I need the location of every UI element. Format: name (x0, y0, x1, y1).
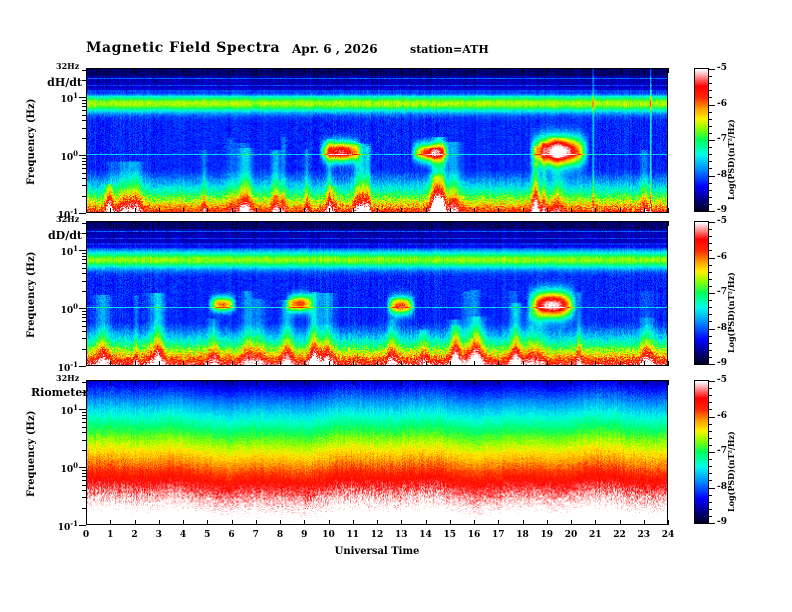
colorbar1-minor-tick (709, 83, 712, 84)
panel2-x-tick-mark (304, 361, 305, 366)
colorbar2-minor-tick (709, 357, 712, 358)
panel2-y-minor-tick (82, 268, 86, 269)
panel2-y-minor-tick (82, 331, 86, 332)
colorbar3-minor-tick (709, 438, 712, 439)
panel3-x-tick-mark (668, 520, 669, 525)
panel3-x-tick-mark (644, 380, 645, 385)
panel1-x-tick-mark (256, 68, 257, 73)
x-tick-label: 21 (585, 530, 605, 540)
panel3-x-tick-mark (232, 380, 233, 385)
panel2-y-minor-tick (82, 321, 86, 322)
panel1-y-minor-tick (82, 178, 86, 179)
panel3-x-tick-mark (401, 520, 402, 525)
panel3-y-minor-tick (82, 450, 86, 451)
colorbar2-minor-tick (709, 236, 712, 237)
panel2-x-tick-mark (110, 221, 111, 226)
panel1-x-tick-mark (304, 208, 305, 213)
panel1-x-tick-mark (377, 208, 378, 213)
panel2-y-minor-tick (82, 314, 86, 315)
panel1-x-tick-mark (135, 208, 136, 213)
panel1-x-tick-mark (595, 208, 596, 213)
panel2-x-tick-mark (159, 361, 160, 366)
panel1-y-minor-tick (82, 158, 86, 159)
panel3-x-tick-mark (595, 520, 596, 525)
colorbar3-tick-mark (709, 488, 715, 489)
panel3-y-minor-tick (82, 476, 86, 477)
panel3-y-minor-tick (82, 392, 86, 393)
colorbar1-minor-tick (709, 112, 712, 113)
colorbar2-minor-tick (709, 300, 712, 301)
x-tick-label: 9 (294, 530, 314, 540)
panel1-x-tick-mark (498, 208, 499, 213)
x-tick-label: 11 (343, 530, 363, 540)
panel3-x-tick-mark (668, 380, 669, 385)
colorbar3-minor-tick (709, 480, 712, 481)
panel1-x-tick-mark (644, 208, 645, 213)
panel2-y-tick-label: 101 (48, 244, 78, 258)
panel3-x-tick-mark (329, 520, 330, 525)
panel3-y-tick-mark (79, 525, 86, 526)
colorbar2-tick-mark (709, 222, 715, 223)
colorbar2-minor-tick (709, 265, 712, 266)
panel2-y-minor-tick (82, 291, 86, 292)
colorbar3-tick-label: -6 (717, 411, 727, 421)
panel3-x-tick-mark (450, 380, 451, 385)
panel1-y-minor-tick (82, 115, 86, 116)
panel2-y-minor-tick (82, 263, 86, 264)
panel1-y-minor-tick (82, 120, 86, 121)
panel2-x-tick-mark (426, 221, 427, 226)
colorbar1-title: Log(PSD)(nT²/Hz) (726, 119, 736, 200)
panel1-x-tick-mark (571, 68, 572, 73)
colorbar2-minor-tick (709, 350, 712, 351)
panel1-x-tick-mark (377, 68, 378, 73)
panel1-y-tick-label: 101 (48, 91, 78, 105)
panel1-x-tick-mark (426, 208, 427, 213)
x-tick-label: 19 (537, 530, 557, 540)
panel1-x-tick-mark (668, 68, 669, 73)
panel1-x-tick-mark (353, 208, 354, 213)
panel1-y-minor-tick (82, 173, 86, 174)
panel3-x-tick-mark (401, 380, 402, 385)
panel3-x-tick-mark (183, 520, 184, 525)
panel2-y-minor-tick (82, 338, 86, 339)
colorbar3-tick-mark (709, 452, 715, 453)
colorbar3-tick-mark (709, 381, 715, 382)
panel1-x-tick-mark (159, 208, 160, 213)
colorbar3-minor-tick (709, 402, 712, 403)
panel1-x-tick-mark (401, 68, 402, 73)
panel1-x-tick-mark (183, 68, 184, 73)
colorbar3-minor-tick (709, 395, 712, 396)
panel1-x-tick-mark (571, 208, 572, 213)
panel2-x-tick-mark (644, 221, 645, 226)
panel1-x-tick-mark (450, 68, 451, 73)
page-title: Magnetic Field Spectra (86, 40, 280, 56)
panel3-label: Riometer (31, 386, 82, 399)
colorbar1-minor-tick (709, 183, 712, 184)
panel3-x-tick-mark (498, 380, 499, 385)
colorbar2-tick-label: -9 (717, 358, 727, 368)
panel1-x-tick-mark (159, 68, 160, 73)
panel1-y-tick-label: 100 (48, 149, 78, 163)
colorbar1-tick-mark (709, 105, 715, 106)
panel2-y-minor-tick (82, 317, 86, 318)
colorbar1-minor-tick (709, 133, 712, 134)
panel3-y-minor-tick (82, 412, 86, 413)
panel2-x-tick-mark (595, 361, 596, 366)
colorbar3-tick-label: -5 (717, 375, 727, 385)
panel2-y-minor-tick (82, 273, 86, 274)
colorbar3-minor-tick (709, 516, 712, 517)
panel1-y-tick-mark (79, 213, 86, 214)
panel1-x-tick-mark (474, 208, 475, 213)
panel1-x-tick-mark (668, 208, 669, 213)
panel3-y-tick-mark (79, 467, 86, 468)
panel2-x-tick-mark (523, 361, 524, 366)
x-tick-label: 14 (416, 530, 436, 540)
panel1-y-minor-tick (82, 138, 86, 139)
panel3-y-minor-tick (82, 497, 86, 498)
colorbar1-minor-tick (709, 154, 712, 155)
panel2-x-tick-mark (232, 221, 233, 226)
panel2-x-tick-mark (329, 361, 330, 366)
colorbar2-tick-mark (709, 364, 715, 365)
colorbar2-minor-tick (709, 321, 712, 322)
colorbar2-tick-mark (709, 329, 715, 330)
panel3-x-tick-mark (377, 520, 378, 525)
panel3-x-tick-mark (523, 380, 524, 385)
colorbar1-minor-tick (709, 76, 712, 77)
colorbar3-minor-tick (709, 509, 712, 510)
colorbar1-minor-tick (709, 168, 712, 169)
panel2-y-minor-tick (82, 259, 86, 260)
panel1-y-minor-tick (82, 128, 86, 129)
panel3-x-tick-mark (207, 380, 208, 385)
panel2-x-tick-mark (571, 221, 572, 226)
panel1-x-tick-mark (474, 68, 475, 73)
colorbar2-minor-tick (709, 314, 712, 315)
panel2-x-tick-mark (644, 361, 645, 366)
colorbar3-minor-tick (709, 502, 712, 503)
x-tick-label: 24 (658, 530, 678, 540)
panel3-x-tick-mark (426, 520, 427, 525)
panel-dd-dt (86, 221, 668, 366)
panel2-y-minor-tick (82, 281, 86, 282)
panel1-x-tick-mark (426, 68, 427, 73)
colorbar-panel2: -5-6-7-8-9 (694, 221, 709, 365)
colorbar1-minor-tick (709, 90, 712, 91)
panel1-x-tick-mark (207, 68, 208, 73)
panel1-y-minor-tick (82, 164, 86, 165)
panel2-x-tick-mark (498, 361, 499, 366)
panel3-x-tick-mark (280, 380, 281, 385)
panel1-x-tick-mark (595, 68, 596, 73)
panel-riometer-plot (86, 380, 668, 525)
x-tick-label: 13 (391, 530, 411, 540)
panel3-y-minor-tick (82, 485, 86, 486)
colorbar2-tick-mark (709, 293, 715, 294)
panel2-x-tick-mark (135, 361, 136, 366)
panel2-y-minor-tick (82, 326, 86, 327)
panel1-y-minor-tick (82, 80, 86, 81)
colorbar3-minor-tick (709, 431, 712, 432)
colorbar2-minor-tick (709, 229, 712, 230)
panel1-x-tick-mark (86, 208, 87, 213)
panel2-x-tick-mark (183, 221, 184, 226)
panel1-top-frequency-label: 32Hz (56, 61, 79, 71)
panel1-label: dH/dt (38, 76, 82, 89)
x-tick-label: 15 (440, 530, 460, 540)
colorbar3-minor-tick (709, 466, 712, 467)
panel1-y-minor-tick (82, 185, 86, 186)
panel2-x-tick-mark (377, 221, 378, 226)
panel-riometer (86, 380, 668, 525)
colorbar3-tick-mark (709, 417, 715, 418)
panel3-y-minor-tick (82, 470, 86, 471)
colorbar3-tick-label: -9 (717, 517, 727, 527)
panel3-y-minor-tick (82, 415, 86, 416)
panel1-x-tick-mark (523, 208, 524, 213)
panel3-x-tick-mark (159, 520, 160, 525)
panel2-x-tick-mark (450, 361, 451, 366)
panel3-x-tick-mark (135, 520, 136, 525)
x-tick-label: 22 (610, 530, 630, 540)
panel3-x-tick-mark (232, 520, 233, 525)
colorbar1-tick-mark (709, 69, 715, 70)
panel3-y-tick-mark (79, 409, 86, 410)
panel2-x-tick-mark (620, 361, 621, 366)
colorbar-panel3: -5-6-7-8-9 (694, 380, 709, 524)
panel2-x-tick-mark (304, 221, 305, 226)
panel1-x-tick-mark (183, 208, 184, 213)
panel3-x-tick-mark (426, 380, 427, 385)
colorbar1-minor-tick (709, 161, 712, 162)
panel2-y-minor-tick (82, 233, 86, 234)
panel2-x-tick-mark (232, 361, 233, 366)
panel2-x-tick-mark (474, 361, 475, 366)
x-tick-label: 7 (246, 530, 266, 540)
panel3-x-tick-mark (547, 380, 548, 385)
panel3-x-tick-mark (620, 380, 621, 385)
panel1-x-tick-mark (256, 208, 257, 213)
panel2-x-tick-mark (547, 221, 548, 226)
panel2-x-tick-mark (135, 221, 136, 226)
panel3-x-tick-mark (86, 520, 87, 525)
colorbar2-minor-tick (709, 279, 712, 280)
panel1-x-tick-mark (620, 68, 621, 73)
x-tick-label: 8 (270, 530, 290, 540)
panel3-y-minor-tick (82, 508, 86, 509)
panel3-x-tick-mark (256, 380, 257, 385)
colorbar1-minor-tick (709, 126, 712, 127)
x-tick-label: 17 (488, 530, 508, 540)
panel2-x-tick-mark (280, 221, 281, 226)
panel3-x-tick-mark (304, 380, 305, 385)
panel2-x-tick-mark (329, 221, 330, 226)
colorbar2-minor-tick (709, 272, 712, 273)
panel2-y-tick-label: 10-1 (48, 360, 78, 374)
panel2-x-tick-mark (86, 221, 87, 226)
panel1-y-tick-mark (79, 97, 86, 98)
x-tick-label: 5 (197, 530, 217, 540)
panel3-x-tick-mark (498, 520, 499, 525)
panel2-label: dD/dt (38, 229, 82, 242)
panel2-y-minor-tick (82, 253, 86, 254)
x-tick-label: 18 (513, 530, 533, 540)
panel2-x-tick-mark (401, 221, 402, 226)
panel1-x-tick-mark (353, 68, 354, 73)
panel2-x-tick-mark (547, 361, 548, 366)
colorbar3-tick-mark (709, 523, 715, 524)
colorbar1-tick-label: -9 (717, 205, 727, 215)
panel3-y-tick-label: 100 (48, 461, 78, 475)
panel3-y-tick-label: 10-1 (48, 519, 78, 533)
colorbar2-tick-label: -6 (717, 252, 727, 262)
panel1-x-tick-mark (644, 68, 645, 73)
colorbar3-minor-tick (709, 473, 712, 474)
panel1-x-tick-mark (110, 68, 111, 73)
panel2-y-tick-mark (79, 308, 86, 309)
panel2-y-axis-title: Frequency (Hz) (26, 252, 37, 338)
panel3-x-tick-mark (474, 380, 475, 385)
panel3-y-tick-label: 101 (48, 403, 78, 417)
panel3-x-tick-mark (353, 380, 354, 385)
panel2-x-tick-mark (256, 361, 257, 366)
colorbar3-minor-tick (709, 459, 712, 460)
panel3-y-minor-tick (82, 418, 86, 419)
panel2-x-tick-mark (353, 361, 354, 366)
panel3-x-tick-mark (595, 380, 596, 385)
x-tick-label: 16 (464, 530, 484, 540)
panel2-x-tick-mark (523, 221, 524, 226)
x-tick-label: 23 (634, 530, 654, 540)
colorbar3-title: Log(PSD)(nT²/Hz) (726, 431, 736, 512)
panel1-x-tick-mark (110, 208, 111, 213)
panel-dd-dt-plot (86, 221, 668, 366)
x-axis: Universal Time 0123456789101112131415161… (86, 525, 668, 565)
panel3-x-tick-mark (571, 380, 572, 385)
colorbar3-minor-tick (709, 409, 712, 410)
panel3-x-tick-mark (377, 380, 378, 385)
panel2-x-tick-mark (620, 221, 621, 226)
panel3-x-tick-mark (86, 380, 87, 385)
panel2-y-tick-label: 100 (48, 302, 78, 316)
panel2-y-minor-tick (82, 311, 86, 312)
panel1-x-tick-mark (280, 68, 281, 73)
colorbar2-minor-tick (709, 286, 712, 287)
panel3-x-tick-mark (571, 520, 572, 525)
panel2-x-tick-mark (353, 221, 354, 226)
panel2-y-tick-mark (79, 366, 86, 367)
colorbar1-tick-mark (709, 211, 715, 212)
colorbar1-minor-tick (709, 147, 712, 148)
panel3-x-tick-mark (304, 520, 305, 525)
colorbar1-tick-label: -5 (717, 63, 727, 73)
colorbar2-minor-tick (709, 336, 712, 337)
panel2-y-minor-tick (82, 256, 86, 257)
colorbar3-minor-tick (709, 445, 712, 446)
panel3-y-minor-tick (82, 490, 86, 491)
panel3-y-minor-tick (82, 440, 86, 441)
panel2-x-tick-mark (183, 361, 184, 366)
panel2-y-minor-tick (82, 349, 86, 350)
panel1-x-tick-mark (523, 68, 524, 73)
panel1-x-tick-mark (304, 68, 305, 73)
panel1-y-tick-mark (79, 155, 86, 156)
x-axis-title: Universal Time (86, 546, 668, 557)
panel3-x-tick-mark (644, 520, 645, 525)
colorbar2-title: Log(PSD)(nT²/Hz) (726, 272, 736, 353)
panel3-x-tick-mark (329, 380, 330, 385)
x-tick-label: 0 (76, 530, 96, 540)
colorbar2-tick-label: -5 (717, 216, 727, 226)
panel2-x-tick-mark (377, 361, 378, 366)
date-label: Apr. 6 , 2026 (292, 42, 378, 56)
panel1-x-tick-mark (329, 208, 330, 213)
panel2-x-tick-mark (280, 361, 281, 366)
panel1-y-minor-tick (82, 100, 86, 101)
x-tick-label: 20 (561, 530, 581, 540)
panel2-x-tick-mark (256, 221, 257, 226)
x-tick-label: 3 (149, 530, 169, 540)
panel2-x-tick-mark (498, 221, 499, 226)
panel1-y-minor-tick (82, 103, 86, 104)
panel3-x-tick-mark (523, 520, 524, 525)
panel3-x-tick-mark (207, 520, 208, 525)
colorbar1-minor-tick (709, 119, 712, 120)
spectrogram-figure: Magnetic Field Spectra Apr. 6 , 2026 sta… (0, 0, 792, 612)
panel3-x-tick-mark (183, 380, 184, 385)
panel3-x-tick-mark (353, 520, 354, 525)
panel1-y-minor-tick (82, 196, 86, 197)
panel1-x-tick-mark (620, 208, 621, 213)
panel3-y-minor-tick (82, 427, 86, 428)
x-tick-label: 6 (222, 530, 242, 540)
panel3-y-minor-tick (82, 432, 86, 433)
panel1-x-tick-mark (547, 68, 548, 73)
colorbar3-minor-tick (709, 388, 712, 389)
panel2-x-tick-mark (159, 221, 160, 226)
x-tick-label: 2 (125, 530, 145, 540)
panel1-x-tick-mark (135, 68, 136, 73)
panel2-x-tick-mark (426, 361, 427, 366)
panel3-x-tick-mark (280, 520, 281, 525)
panel1-y-minor-tick (82, 110, 86, 111)
panel2-x-tick-mark (571, 361, 572, 366)
colorbar2-minor-tick (709, 243, 712, 244)
colorbar2-minor-tick (709, 343, 712, 344)
colorbar1-minor-tick (709, 204, 712, 205)
colorbar1-minor-tick (709, 197, 712, 198)
panel-dh-dt (86, 68, 668, 213)
panel3-y-axis-title: Frequency (Hz) (26, 411, 37, 497)
colorbar2-minor-tick (709, 307, 712, 308)
panel2-x-tick-mark (668, 361, 669, 366)
colorbar2-tick-mark (709, 258, 715, 259)
panel1-x-tick-mark (232, 208, 233, 213)
panel3-x-tick-mark (450, 520, 451, 525)
panel1-y-minor-tick (82, 106, 86, 107)
panel2-y-tick-mark (79, 250, 86, 251)
panel1-x-tick-mark (547, 208, 548, 213)
panel1-x-tick-mark (498, 68, 499, 73)
x-tick-label: 1 (100, 530, 120, 540)
x-tick-label: 10 (319, 530, 339, 540)
panel3-top-frequency-label: 32Hz (56, 373, 79, 383)
panel1-x-tick-mark (401, 208, 402, 213)
panel3-x-tick-mark (620, 520, 621, 525)
